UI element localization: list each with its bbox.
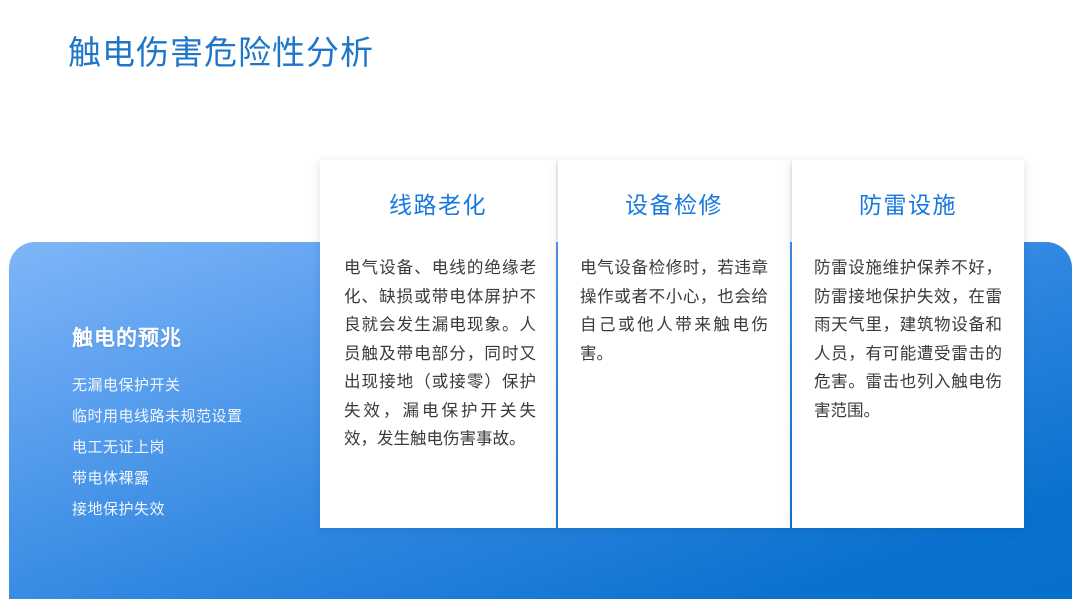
card-body: 电气设备、电线的绝缘老化、缺损或带电体屏护不良就会发生漏电现象。人员触及带电部分… — [344, 254, 536, 454]
card-title: 设备检修 — [558, 186, 790, 220]
panel-heading: 触电的预兆 — [72, 322, 182, 352]
page-title: 触电伤害危险性分析 — [68, 32, 374, 73]
card-equipment-maintenance: 设备检修 电气设备检修时，若违章操作或者不小心，也会给自己或他人带来触电伤害。 — [558, 160, 790, 528]
card-body: 电气设备检修时，若违章操作或者不小心，也会给自己或他人带来触电伤害。 — [580, 254, 768, 368]
list-item: 电工无证上岗 — [72, 432, 322, 463]
card-body: 防雷设施维护保养不好，防雷接地保护失效，在雷雨天气里，建筑物设备和人员，有可能遭… — [814, 254, 1002, 425]
card-title: 线路老化 — [320, 186, 556, 220]
warning-signs-list: 无漏电保护开关 临时用电线路未规范设置 电工无证上岗 带电体裸露 接地保护失效 — [72, 370, 322, 525]
list-item: 带电体裸露 — [72, 463, 322, 494]
list-item: 无漏电保护开关 — [72, 370, 322, 401]
card-lightning-protection: 防雷设施 防雷设施维护保养不好，防雷接地保护失效，在雷雨天气里，建筑物设备和人员… — [792, 160, 1024, 528]
card-line-aging: 线路老化 电气设备、电线的绝缘老化、缺损或带电体屏护不良就会发生漏电现象。人员触… — [320, 160, 556, 528]
list-item: 临时用电线路未规范设置 — [72, 401, 322, 432]
card-title: 防雷设施 — [792, 186, 1024, 220]
slide-canvas: 触电伤害危险性分析 触电的预兆 无漏电保护开关 临时用电线路未规范设置 电工无证… — [0, 0, 1080, 608]
list-item: 接地保护失效 — [72, 494, 322, 525]
